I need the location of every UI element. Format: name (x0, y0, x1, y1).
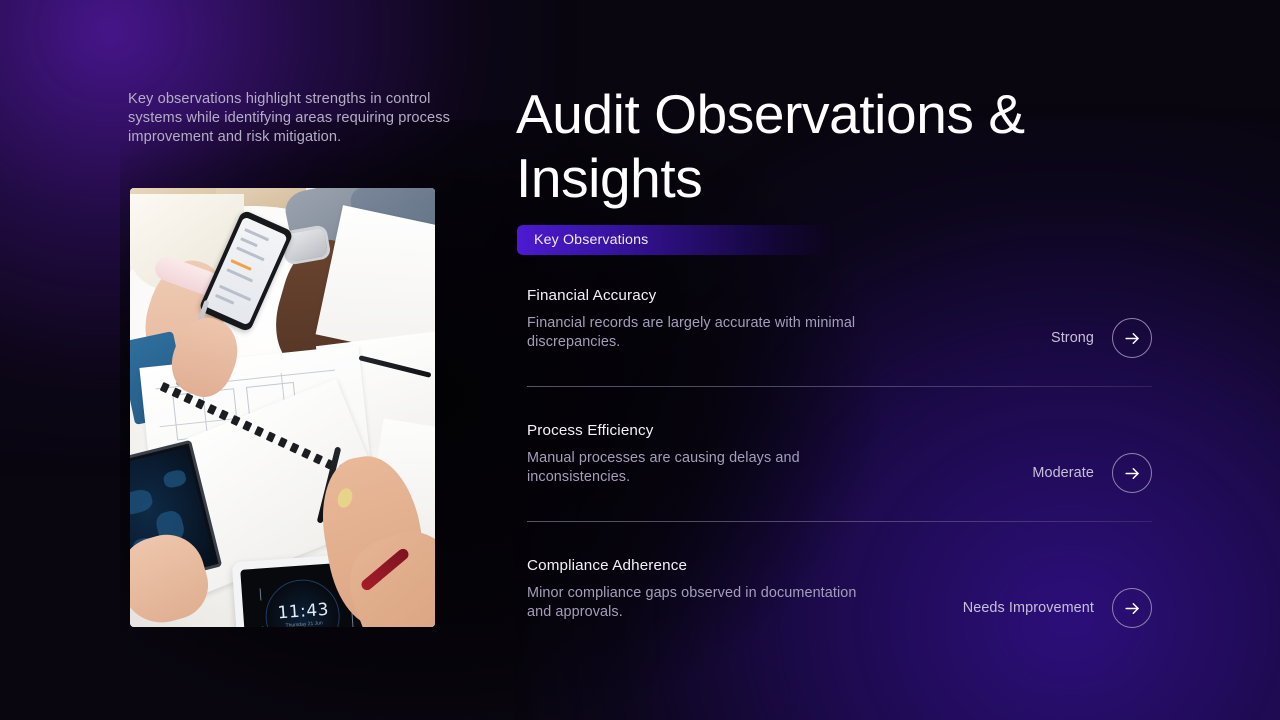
observation-title: Financial Accuracy (527, 286, 1007, 306)
observation-row[interactable]: Compliance Adherence Minor compliance ga… (527, 556, 1152, 656)
section-badge-label: Key Observations (534, 232, 648, 248)
observation-meta: Moderate (1032, 453, 1152, 493)
observation-row[interactable]: Process Efficiency Manual processes are … (527, 421, 1152, 521)
observations-list: Financial Accuracy Financial records are… (527, 286, 1152, 656)
observation-description: Financial records are largely accurate w… (527, 314, 857, 351)
observation-meta: Strong (1051, 318, 1152, 358)
arrow-right-icon (1123, 599, 1142, 618)
row-divider (527, 386, 1152, 387)
status-badge: Strong (1051, 330, 1094, 346)
team-photo: 11:43 Thursday 21 Jun (130, 188, 435, 627)
team-photo-image: 11:43 Thursday 21 Jun (130, 188, 435, 627)
observation-text: Compliance Adherence Minor compliance ga… (527, 556, 1007, 621)
observation-title: Compliance Adherence (527, 556, 1007, 576)
observation-title: Process Efficiency (527, 421, 1007, 441)
status-badge: Moderate (1032, 465, 1094, 481)
observation-text: Process Efficiency Manual processes are … (527, 421, 1007, 486)
observation-row[interactable]: Financial Accuracy Financial records are… (527, 286, 1152, 386)
observation-description: Manual processes are causing delays and … (527, 449, 857, 486)
observation-arrow-button[interactable] (1112, 453, 1152, 493)
intro-paragraph: Key observations highlight strengths in … (128, 90, 453, 146)
status-badge: Needs Improvement (963, 600, 1094, 616)
observation-arrow-button[interactable] (1112, 588, 1152, 628)
slide-stage: Key observations highlight strengths in … (0, 0, 1280, 720)
section-badge: Key Observations (517, 225, 835, 255)
page-title: Audit Observations & Insights (516, 82, 1056, 210)
observation-description: Minor compliance gaps observed in docume… (527, 584, 857, 621)
observation-arrow-button[interactable] (1112, 318, 1152, 358)
observation-meta: Needs Improvement (963, 588, 1152, 628)
row-divider (527, 521, 1152, 522)
arrow-right-icon (1123, 464, 1142, 483)
observation-text: Financial Accuracy Financial records are… (527, 286, 1007, 351)
arrow-right-icon (1123, 329, 1142, 348)
